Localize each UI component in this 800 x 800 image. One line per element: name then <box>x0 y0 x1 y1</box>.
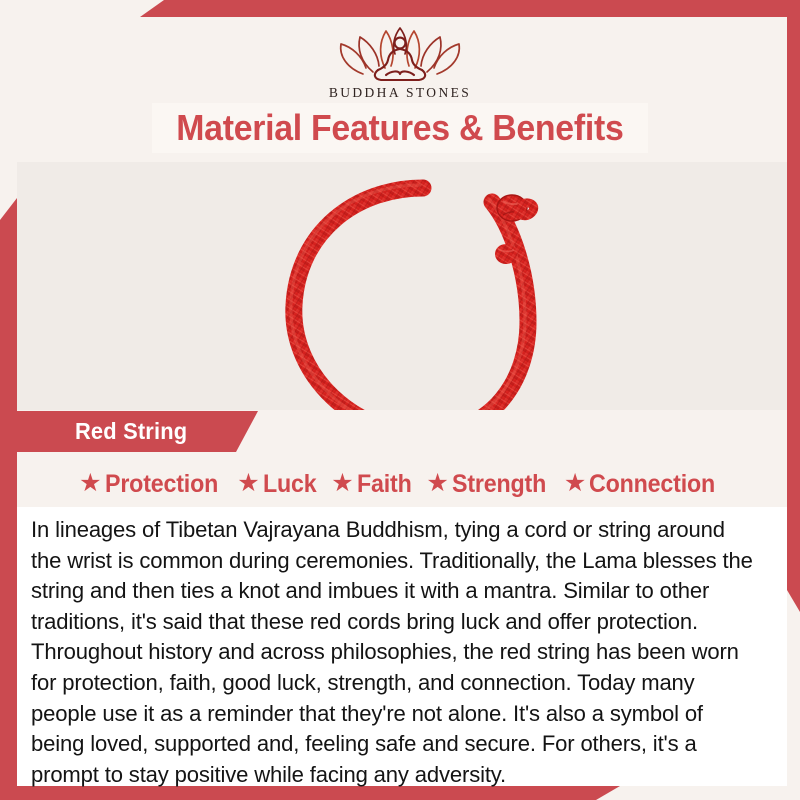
material-name: Red String <box>75 418 187 445</box>
title-banner: Material Features & Benefits <box>152 103 648 153</box>
decor-band-top <box>140 0 800 17</box>
benefit-item-connection: ★ Connection <box>564 470 725 499</box>
product-photo-area <box>17 162 787 410</box>
page-title: Material Features & Benefits <box>176 107 623 149</box>
benefits-list: ★ Protection ★ Luck ★ Faith ★ Strength ★… <box>17 462 787 506</box>
benefit-label: Luck <box>263 470 317 499</box>
benefit-item-luck: ★ Luck <box>237 470 320 499</box>
description-panel: In lineages of Tibetan Vajrayana Buddhis… <box>17 507 787 786</box>
star-icon: ★ <box>564 471 586 496</box>
benefit-label: Connection <box>589 470 715 499</box>
star-icon: ★ <box>237 471 259 496</box>
benefit-item-faith: ★ Faith <box>331 470 415 499</box>
benefit-label: Faith <box>357 470 412 499</box>
description-text: In lineages of Tibetan Vajrayana Buddhis… <box>31 515 754 790</box>
benefit-label: Strength <box>452 470 546 499</box>
decor-band-left <box>0 198 17 800</box>
red-string-bracelet-image <box>260 170 580 410</box>
brand-name: BUDDHA STONES <box>329 85 471 101</box>
benefit-item-protection: ★ Protection <box>79 470 226 499</box>
benefit-label: Protection <box>105 470 218 499</box>
lotus-meditating-figure-icon <box>333 18 467 84</box>
benefit-item-strength: ★ Strength <box>426 470 553 499</box>
material-ribbon: Red String <box>0 411 258 452</box>
star-icon: ★ <box>426 471 448 496</box>
star-icon: ★ <box>79 471 101 496</box>
star-icon: ★ <box>331 471 353 496</box>
infographic-page: BUDDHA STONES Material Features & Benefi… <box>0 0 800 800</box>
brand-header: BUDDHA STONES <box>0 18 800 106</box>
